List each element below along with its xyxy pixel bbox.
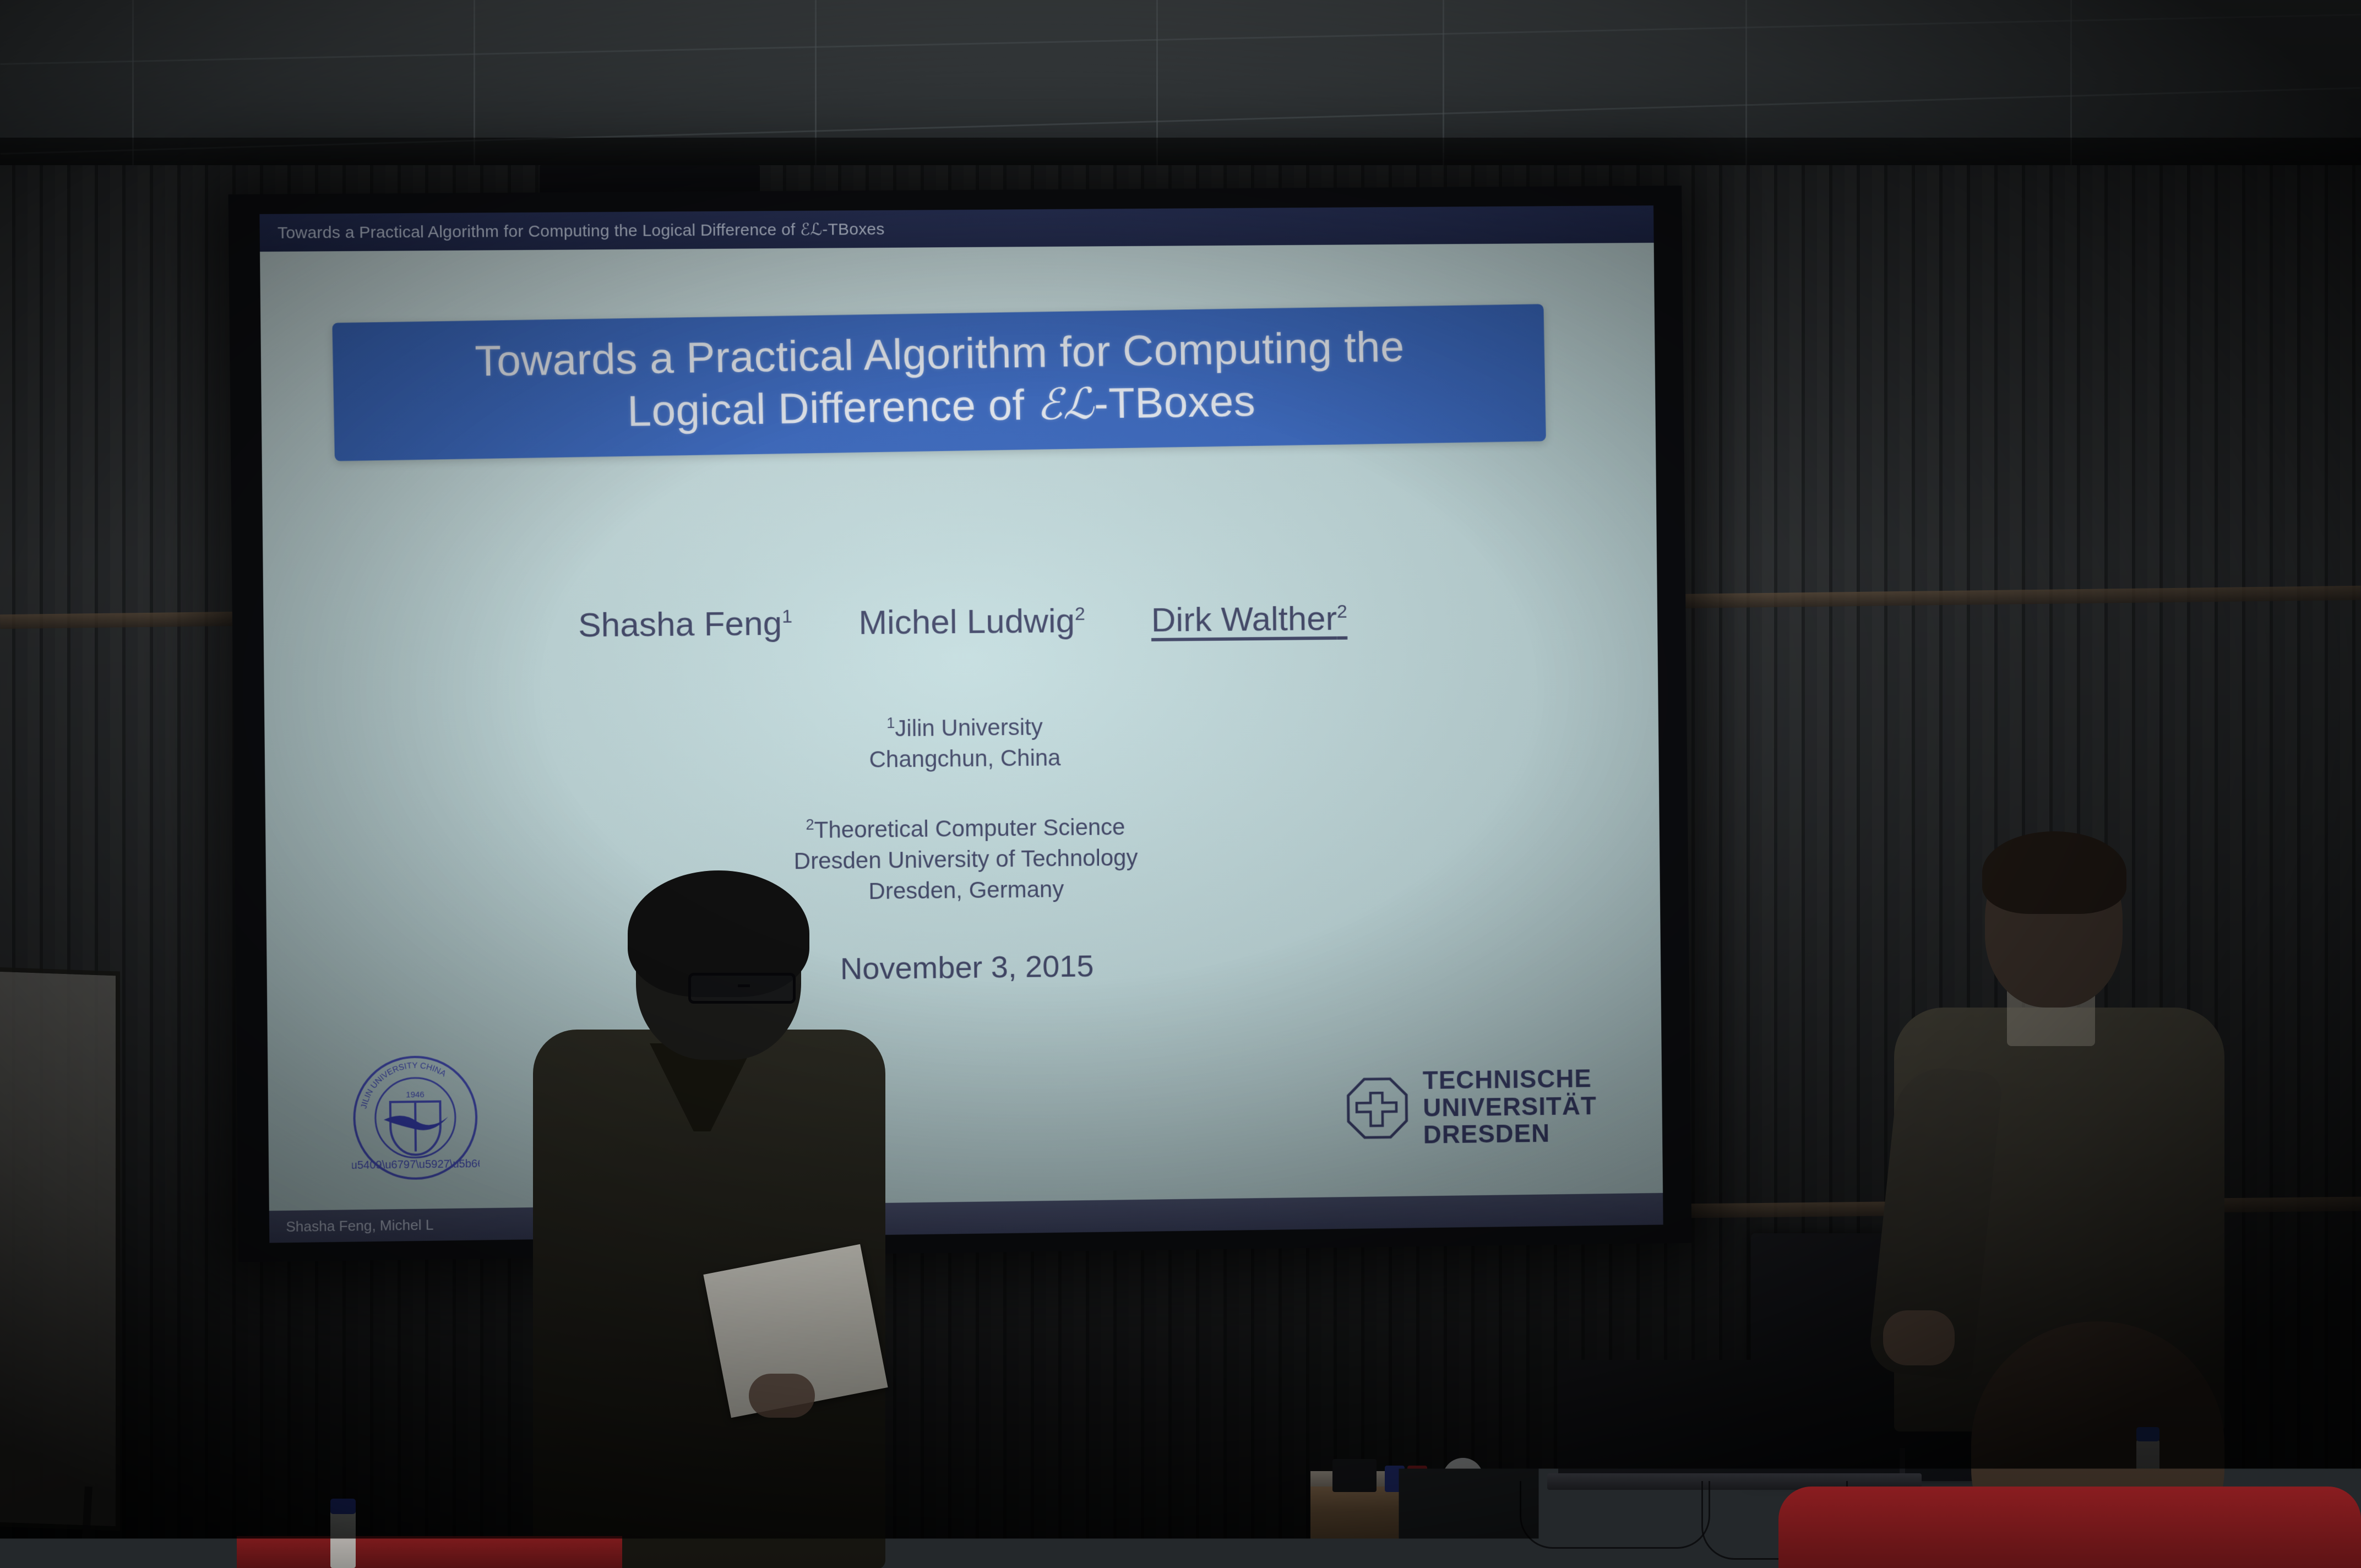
- affiliation-1: 1Jilin University Changchun, China: [264, 706, 1658, 781]
- water-bottle-right: [2136, 1438, 2159, 1499]
- laptop-screen: [1558, 1360, 1900, 1481]
- slide-footer-text: Shasha Feng, Michel L: [286, 1216, 433, 1235]
- author-0-sup: 1: [782, 606, 792, 627]
- tud-line-2: UNIVERSITÄT: [1423, 1092, 1597, 1121]
- water-bottle-left-cap: [330, 1499, 356, 1514]
- water-bottle-left: [330, 1509, 356, 1568]
- presentation-photo-scene: Towards a Practical Algorithm for Comput…: [0, 0, 2361, 1568]
- slide-header-title: Towards a Practical Algorithm for Comput…: [278, 219, 885, 242]
- author-0: Shasha Feng1: [578, 604, 793, 645]
- el-logic-symbol: ℰℒ: [1036, 380, 1095, 429]
- author-2: Dirk Walther2: [1151, 599, 1347, 640]
- screen-mount-bracket: [540, 165, 760, 194]
- author-2-sup: 2: [1337, 601, 1347, 622]
- cable-1: [1520, 1481, 1710, 1549]
- tud-octagon-icon: [1345, 1076, 1410, 1141]
- desk-accessories: [1332, 1453, 1514, 1492]
- svg-text:\u5409\u6797\u5927\u5b66: \u5409\u6797\u5927\u5b66: [351, 1158, 480, 1172]
- slide-title-line-2-post: -TBoxes: [1094, 377, 1256, 428]
- presenter-right-hand: [1883, 1310, 1955, 1365]
- slide-title-line-2-pre: Logical Difference of: [627, 380, 1037, 435]
- author-1: Michel Ludwig2: [858, 601, 1085, 643]
- tud-wordmark: TECHNISCHE UNIVERSITÄT DRESDEN: [1423, 1065, 1597, 1148]
- slide-title-box: Towards a Practical Algorithm for Comput…: [332, 304, 1546, 461]
- svg-text:1946: 1946: [406, 1090, 425, 1099]
- affiliation-2: 2Theoretical Computer Science Dresden Un…: [265, 806, 1660, 913]
- tu-dresden-logo: TECHNISCHE UNIVERSITÄT DRESDEN: [1345, 1065, 1597, 1150]
- author-0-name: Shasha Feng: [578, 605, 782, 644]
- slide: Towards a Practical Algorithm for Comput…: [259, 205, 1663, 1243]
- projection-screen: Towards a Practical Algorithm for Comput…: [228, 186, 1691, 1262]
- red-chair-back-right: [1778, 1487, 2361, 1568]
- affiliation-1-univ: Jilin University: [895, 714, 1043, 742]
- tud-line-1: TECHNISCHE: [1423, 1065, 1597, 1094]
- jilin-university-logo-icon: 1946 \u5409\u6797\u5927\u5b66 JILIN UNIV…: [351, 1053, 480, 1182]
- eyeglasses-icon: [688, 973, 796, 1004]
- affiliation-2-dept: Theoretical Computer Science: [814, 814, 1125, 843]
- red-chair-back-left: [237, 1536, 622, 1568]
- slide-body: Towards a Practical Algorithm for Comput…: [260, 243, 1663, 1211]
- affiliation-2-sup: 2: [806, 816, 814, 833]
- whiteboard: [0, 966, 120, 1531]
- tud-line-3: DRESDEN: [1423, 1119, 1597, 1148]
- presenter-foreground-hand: [749, 1374, 815, 1418]
- author-1-sup: 2: [1075, 603, 1085, 624]
- presenter-foreground: [512, 878, 897, 1568]
- author-1-name: Michel Ludwig: [858, 602, 1075, 642]
- water-bottle-right-cap: [2136, 1427, 2159, 1441]
- slide-date: November 3, 2015: [266, 941, 1661, 993]
- author-list: Shasha Feng1 Michel Ludwig2 Dirk Walther…: [263, 596, 1657, 648]
- presenter-right-hair: [1982, 831, 2126, 914]
- author-2-name: Dirk Walther: [1151, 600, 1337, 639]
- affiliation-1-sup: 1: [886, 715, 895, 731]
